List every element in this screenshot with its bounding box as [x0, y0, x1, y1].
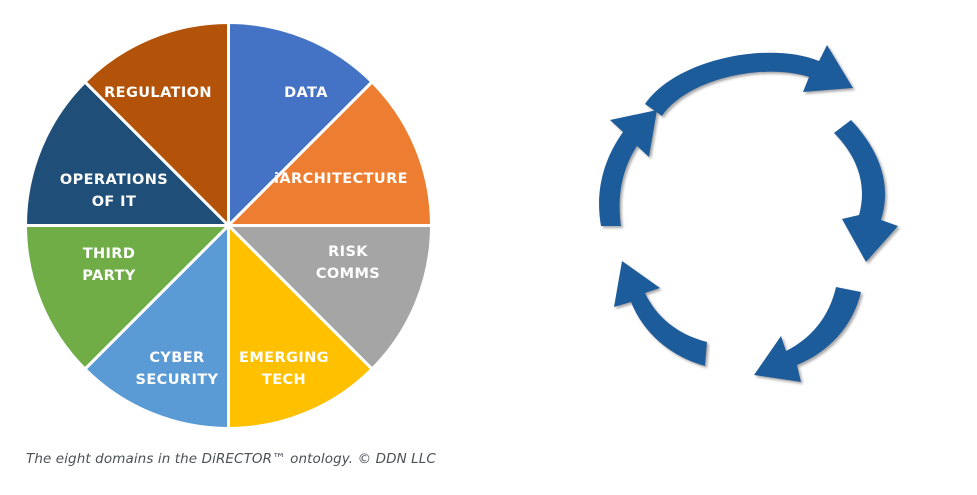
pie-label-iarchitecture: iARCHITECTURE — [274, 171, 408, 187]
ontology-pie-chart: DATA iARCHITECTURE RISK COMMS EMERGING T… — [25, 22, 432, 429]
cycle-arrow-xjurisdictional-to-replaceability — [645, 45, 853, 116]
pie-label-cyber-security-line1: CYBER — [149, 350, 204, 366]
pie-label-cyber-security-line2: SECURITY — [136, 372, 219, 388]
cycle-arrows — [599, 45, 898, 382]
riscx-cycle-diagram — [509, 30, 969, 420]
ontology-caption: The eight domains in the DiRECTOR™ ontol… — [26, 451, 436, 467]
pie-label-data: DATA — [284, 85, 328, 101]
riscx-cycle-figure: RISCX™ and the key causes of digital sys… — [489, 0, 977, 495]
riscx-diagram-area — [489, 0, 977, 440]
pie-label-emerging-tech-line1: EMERGING — [239, 350, 329, 366]
pie-label-operations-of-it-line1: OPERATIONS — [60, 172, 168, 188]
pie-label-third-party-line1: THIRD — [83, 246, 136, 262]
pie-slices — [25, 22, 431, 428]
cycle-arrow-size-to-complexity — [614, 261, 707, 366]
pie-label-risk-comms-line2: COMMS — [316, 266, 380, 282]
pie-label-operations-of-it-line2: OF IT — [92, 194, 137, 210]
pie-label-regulation: REGULATION — [104, 85, 212, 101]
cycle-arrow-replaceability-to-interconnectedness — [834, 120, 898, 262]
ontology-diagram-area: DATA iARCHITECTURE RISK COMMS EMERGING T… — [0, 0, 489, 440]
pie-label-risk-comms-line1: RISK — [328, 244, 368, 260]
director-ontology-figure: DATA iARCHITECTURE RISK COMMS EMERGING T… — [0, 0, 489, 495]
cycle-arrow-complexity-to-xjurisdictional — [599, 110, 657, 226]
pie-label-third-party-line2: PARTY — [82, 268, 136, 284]
pie-label-emerging-tech-line2: TECH — [262, 372, 306, 388]
cycle-arrow-interconnectedness-to-size — [754, 287, 861, 382]
